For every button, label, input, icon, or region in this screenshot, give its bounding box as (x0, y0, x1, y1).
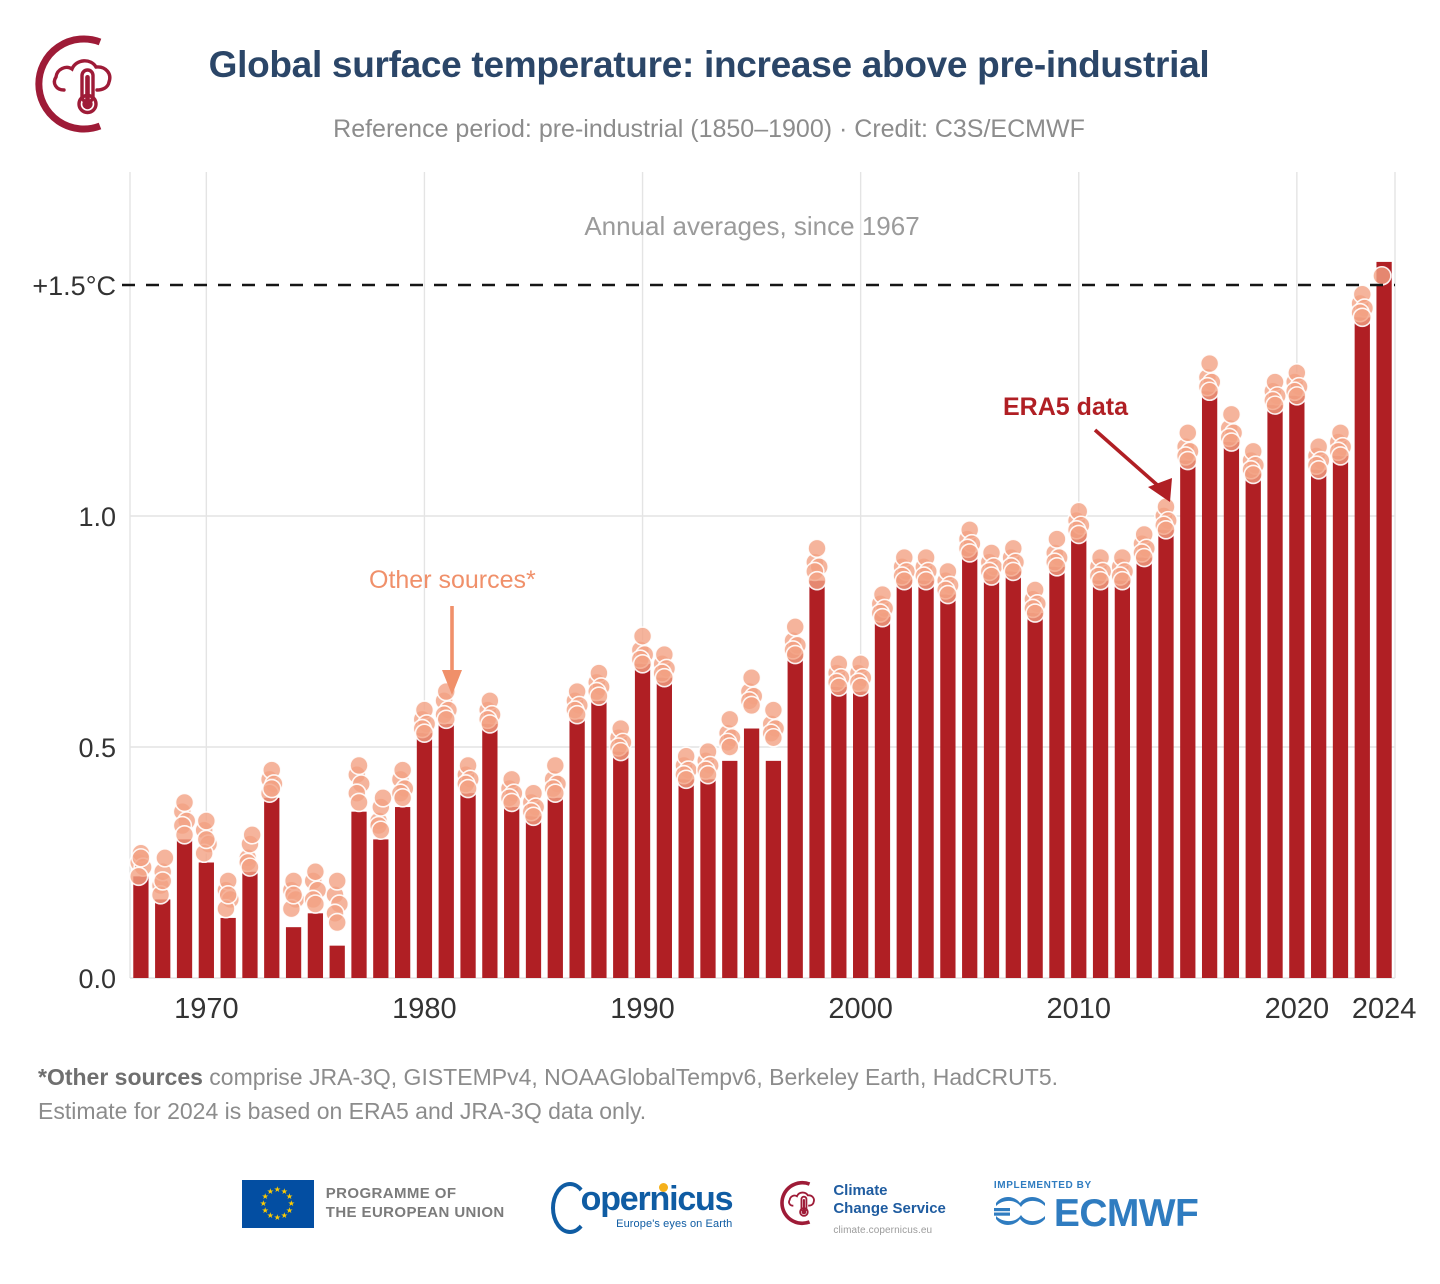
bar-1997 (788, 650, 803, 978)
c3s-logo-block: Climate Change Service climate.copernicu… (778, 1180, 946, 1240)
other-source-dot-1977 (350, 756, 368, 774)
other-source-dot-1969 (176, 793, 194, 811)
bar-2019 (1267, 405, 1282, 978)
bar-2015 (1180, 461, 1195, 978)
other-source-dot-1969 (176, 826, 194, 844)
bar-2013 (1137, 558, 1152, 978)
other-source-dot-1986 (546, 784, 564, 802)
other-source-dot-2019 (1266, 396, 1284, 414)
c3s-line1: Climate (833, 1182, 946, 1200)
footnote-line1-rest: comprise JRA-3Q, GISTEMPv4, NOAAGlobalTe… (203, 1064, 1058, 1090)
x-tick-label: 2020 (1265, 993, 1330, 1025)
era5-arrow-shaft (1095, 430, 1163, 490)
other-source-dot-1991 (655, 669, 673, 687)
other-source-dot-1980 (415, 724, 433, 742)
other-source-dot-1986 (546, 756, 564, 774)
y-tick-label: 1.0 (78, 502, 116, 532)
bar-1976 (330, 946, 345, 978)
bar-2024 (1376, 262, 1391, 978)
bar-1991 (657, 678, 672, 978)
other-source-dot-1976 (328, 914, 346, 932)
eu-star-icon: ★ (281, 1212, 288, 1220)
bar-2005 (962, 548, 977, 978)
other-source-dot-2001 (873, 609, 891, 627)
bar-1998 (809, 581, 824, 978)
other-source-dot-2003 (917, 572, 935, 590)
bar-1975 (308, 913, 323, 978)
bar-1973 (264, 798, 279, 978)
temperature-bar-chart: 0.00.51.0+1.5°C1970198019902000201020202… (0, 0, 1440, 1040)
other-source-dot-2007 (1004, 562, 1022, 580)
y-tick-label: 0.0 (78, 964, 116, 994)
eu-logo-line1: PROGRAMME OF (326, 1184, 505, 1203)
other-source-dot-1974 (285, 886, 303, 904)
other-source-dot-1996 (764, 729, 782, 747)
other-source-dot-2015 (1179, 452, 1197, 470)
chart-plot-area: 0.00.51.0+1.5°C1970198019902000201020202… (0, 0, 1440, 1040)
other-source-dot-1995 (743, 696, 761, 714)
other-source-dot-1981 (437, 710, 455, 728)
other-source-dot-1973 (263, 780, 281, 798)
bar-1985 (526, 816, 541, 978)
other-source-dot-2017 (1222, 405, 1240, 423)
x-tick-label: 2000 (828, 993, 893, 1025)
bar-1970 (199, 863, 214, 979)
bar-1999 (831, 687, 846, 978)
copernicus-wordmark: opernicus (581, 1182, 733, 1216)
bar-2011 (1093, 581, 1108, 978)
eu-logo-line2: THE EUROPEAN UNION (326, 1203, 505, 1222)
footer-logos: ★★★★★★★★★★★★ PROGRAMME OF THE EUROPEAN U… (0, 1180, 1440, 1260)
bar-2002 (897, 576, 912, 978)
c3s-line2: Change Service (833, 1200, 946, 1218)
bar-1995 (744, 729, 759, 978)
other-source-dot-2012 (1113, 572, 1131, 590)
bar-1979 (395, 807, 410, 978)
bar-1993 (700, 779, 715, 978)
footnote-bold-lead: *Other sources (38, 1064, 203, 1090)
bar-2004 (940, 595, 955, 978)
copernicus-logo: opernicus Europe's eyes on Earth (551, 1180, 733, 1234)
bar-1982 (460, 793, 475, 978)
other-source-dot-2021 (1310, 461, 1328, 479)
x-tick-label: 2024 (1352, 993, 1417, 1025)
bar-1969 (177, 839, 192, 978)
other-source-dot-1979 (394, 789, 412, 807)
y-tick-label: +1.5°C (32, 271, 116, 301)
other-source-dot-2016 (1201, 355, 1219, 373)
other-source-dot-2013 (1135, 549, 1153, 567)
bar-2014 (1158, 530, 1173, 978)
chart-footnote: *Other sources comprise JRA-3Q, GISTEMPv… (38, 1060, 1368, 1128)
other-source-dot-1979 (394, 761, 412, 779)
copernicus-dot-icon (659, 1183, 668, 1192)
other-source-dot-1970 (197, 812, 215, 830)
other-source-dot-1983 (481, 715, 499, 733)
other-source-dot-2005 (961, 544, 979, 562)
other-source-dot-2023 (1353, 308, 1371, 326)
ecmwf-implemented-by-label: IMPLEMENTED BY (994, 1180, 1198, 1191)
other-source-dot-1971 (219, 886, 237, 904)
other-source-dot-2000 (852, 678, 870, 696)
other-source-dot-2010 (1070, 525, 1088, 543)
bar-2009 (1049, 567, 1064, 978)
x-tick-label: 1990 (610, 993, 675, 1025)
c3s-logo-text: Climate Change Service climate.copernicu… (833, 1180, 946, 1240)
bar-2006 (984, 571, 999, 978)
bar-2020 (1289, 396, 1304, 978)
other-source-dot-1985 (524, 807, 542, 825)
bar-1983 (482, 724, 497, 978)
bar-1972 (242, 872, 257, 978)
c3s-small-thermometer-icon (778, 1180, 824, 1226)
other-source-dot-1975 (306, 863, 324, 881)
bar-1984 (504, 807, 519, 978)
bar-2023 (1355, 317, 1370, 978)
footnote-line2: Estimate for 2024 is based on ERA5 and J… (38, 1094, 1368, 1128)
other-source-dot-1990 (634, 655, 652, 673)
bar-2008 (1027, 613, 1042, 978)
other-source-dot-2022 (1331, 447, 1349, 465)
other-source-dot-1998 (808, 572, 826, 590)
ecmwf-mark-icon (992, 1193, 1050, 1234)
other-source-dot-1992 (677, 770, 695, 788)
other-source-dot-2017 (1222, 433, 1240, 451)
ecmwf-logo: IMPLEMENTED BY ECMWF (992, 1180, 1198, 1234)
y-tick-label: 0.5 (78, 733, 116, 763)
bar-2010 (1071, 530, 1086, 978)
bar-2022 (1333, 456, 1348, 978)
other-source-dot-1968 (156, 849, 174, 867)
annual-averages-note: Annual averages, since 1967 (584, 211, 919, 241)
other-source-dot-2002 (895, 572, 913, 590)
ecmwf-wordmark: ECMWF (1054, 1194, 1198, 1233)
other-source-dot-2020 (1288, 387, 1306, 405)
other-sources-annotation-label: Other sources* (369, 566, 536, 594)
c3s-url: climate.copernicus.eu (833, 1222, 946, 1240)
bar-2007 (1006, 571, 1021, 978)
era5-annotation-label: ERA5 data (1003, 393, 1129, 421)
eu-star-icon: ★ (262, 1207, 269, 1215)
bar-1992 (679, 779, 694, 978)
other-source-dot-2024 (1373, 267, 1391, 285)
bar-2017 (1224, 442, 1239, 978)
bar-2018 (1246, 470, 1261, 978)
bar-1996 (766, 761, 781, 978)
bar-1977 (351, 812, 366, 978)
bar-1978 (373, 839, 388, 978)
other-source-dot-2011 (1092, 572, 1110, 590)
bar-2003 (918, 581, 933, 978)
other-source-dot-1982 (459, 780, 477, 798)
x-tick-label: 1970 (174, 993, 239, 1025)
bar-1990 (635, 664, 650, 978)
other-source-dot-2008 (1026, 604, 1044, 622)
bar-2000 (853, 692, 868, 978)
x-tick-label: 2010 (1046, 993, 1111, 1025)
other-source-dot-1975 (306, 895, 324, 913)
other-source-dot-1967 (132, 849, 150, 867)
other-source-dot-1977 (350, 793, 368, 811)
other-source-dot-1994 (721, 710, 739, 728)
bar-1971 (221, 918, 236, 978)
bar-1989 (613, 752, 628, 978)
eu-logo: ★★★★★★★★★★★★ PROGRAMME OF THE EUROPEAN U… (242, 1180, 505, 1228)
copernicus-word-text: opernicus (581, 1180, 733, 1218)
bar-1974 (286, 927, 301, 978)
eu-flag-icon: ★★★★★★★★★★★★ (242, 1180, 314, 1228)
eu-star-icon: ★ (260, 1200, 267, 1208)
other-source-dot-1984 (503, 793, 521, 811)
other-source-dot-1972 (243, 826, 261, 844)
bar-1987 (569, 719, 584, 978)
other-source-dot-1997 (786, 618, 804, 636)
bar-1967 (133, 876, 148, 978)
bar-1981 (439, 724, 454, 978)
other-source-dot-2016 (1201, 382, 1219, 400)
other-source-dot-1996 (764, 701, 782, 719)
other-source-dot-2018 (1244, 465, 1262, 483)
other-source-dot-1989 (612, 743, 630, 761)
other-source-dot-1970 (197, 830, 215, 848)
x-tick-label: 1980 (392, 993, 457, 1025)
other-source-dot-2014 (1157, 521, 1175, 539)
bar-1988 (591, 701, 606, 978)
other-source-dot-1968 (154, 872, 172, 890)
bar-1994 (722, 761, 737, 978)
other-source-dot-1998 (808, 539, 826, 557)
other-source-dot-1976 (328, 872, 346, 890)
other-source-dot-2009 (1048, 530, 1066, 548)
other-source-dot-1990 (634, 627, 652, 645)
eu-star-icon: ★ (267, 1188, 274, 1196)
bar-1986 (548, 798, 563, 978)
other-source-dot-1978 (372, 821, 390, 839)
other-source-dot-1967 (130, 867, 148, 885)
bar-2001 (875, 613, 890, 978)
other-source-dot-2015 (1179, 424, 1197, 442)
other-source-dot-2004 (939, 586, 957, 604)
bar-2012 (1115, 581, 1130, 978)
bar-1980 (417, 733, 432, 978)
bar-1968 (155, 899, 170, 978)
other-source-dot-2006 (983, 567, 1001, 585)
eu-logo-text: PROGRAMME OF THE EUROPEAN UNION (326, 1180, 505, 1222)
other-source-dot-1995 (743, 669, 761, 687)
other-source-dot-1988 (590, 687, 608, 705)
bar-2016 (1202, 391, 1217, 978)
other-source-dot-1997 (786, 646, 804, 664)
other-source-dot-1994 (721, 738, 739, 756)
eu-star-icon: ★ (274, 1214, 281, 1222)
other-source-dot-1993 (699, 766, 717, 784)
other-source-dot-2009 (1048, 558, 1066, 576)
bar-2021 (1311, 470, 1326, 978)
other-source-dot-1999 (830, 678, 848, 696)
copernicus-tagline: Europe's eyes on Earth (581, 1218, 733, 1230)
other-source-dot-1978 (374, 789, 392, 807)
other-source-dot-1987 (568, 706, 586, 724)
other-source-dot-1972 (241, 858, 259, 876)
